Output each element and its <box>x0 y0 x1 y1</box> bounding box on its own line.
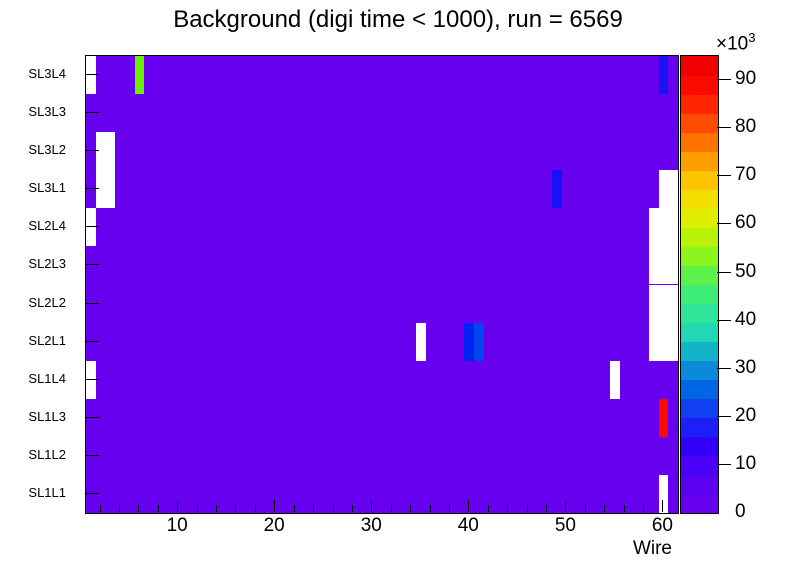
colorbar-band <box>681 418 718 438</box>
colorbar-band <box>681 494 718 514</box>
colorbar-label-40: 40 <box>735 309 756 331</box>
colorbar-tick-labels: 0102030405060708090 <box>717 55 796 515</box>
x-axis-label-20: 20 <box>264 515 285 537</box>
colorbar-band <box>681 361 718 381</box>
colorbar-band <box>681 323 718 343</box>
colorbar-band <box>681 189 718 209</box>
colorbar-tick <box>717 127 731 128</box>
x-axis-label-50: 50 <box>555 515 576 537</box>
colorbar-tick <box>717 464 731 465</box>
x-axis-minor-tick <box>546 505 547 512</box>
x-axis-minor-tick <box>488 505 489 512</box>
x-axis-minor-tick <box>235 505 236 512</box>
x-axis-minor-tick <box>527 505 528 512</box>
colorbar-band <box>681 113 718 133</box>
x-axis-title: Wire <box>0 538 677 560</box>
x-axis-major-tick <box>468 500 469 512</box>
x-axis-minor-tick <box>197 505 198 512</box>
x-axis-label-60: 60 <box>652 515 673 537</box>
x-axis-label-10: 10 <box>167 515 188 537</box>
x-axis-minor-tick <box>333 505 334 512</box>
colorbar-band <box>681 342 718 362</box>
colorbar-band <box>681 75 718 95</box>
x-axis-minor-tick <box>313 505 314 512</box>
colorbar-band <box>681 437 718 457</box>
x-axis-minor-tick <box>294 505 295 512</box>
canvas: Background (digi time < 1000), run = 656… <box>0 0 796 572</box>
colorbar-multiplier-exponent: 3 <box>748 30 755 45</box>
x-axis-minor-tick <box>410 505 411 512</box>
x-axis-minor-tick <box>624 505 625 512</box>
colorbar-band <box>681 285 718 305</box>
colorbar-band <box>681 227 718 247</box>
colorbar-band <box>681 56 718 76</box>
colorbar-label-10: 10 <box>735 453 756 475</box>
x-axis-major-tick <box>565 500 566 512</box>
x-axis-major-tick <box>371 500 372 512</box>
colorbar-label-80: 80 <box>735 116 756 138</box>
x-axis-minor-tick <box>352 505 353 512</box>
colorbar-band <box>681 265 718 285</box>
x-axis-ticks <box>0 0 796 572</box>
x-axis-minor-tick <box>255 505 256 512</box>
colorbar-tick <box>717 320 731 321</box>
color-bar[interactable] <box>680 55 719 514</box>
x-axis-minor-tick <box>216 505 217 512</box>
x-axis-minor-tick <box>100 505 101 512</box>
x-axis-minor-tick <box>449 505 450 512</box>
colorbar-band <box>681 246 718 266</box>
colorbar-label-30: 30 <box>735 357 756 379</box>
colorbar-tick <box>717 79 731 80</box>
colorbar-band <box>681 475 718 495</box>
x-axis-minor-tick <box>158 505 159 512</box>
x-axis-minor-tick <box>138 505 139 512</box>
colorbar-band <box>681 208 718 228</box>
x-axis-label-30: 30 <box>361 515 382 537</box>
x-axis-minor-tick <box>643 505 644 512</box>
colorbar-label-70: 70 <box>735 164 756 186</box>
x-axis-major-tick <box>662 500 663 512</box>
x-axis-major-tick <box>177 500 178 512</box>
x-axis-minor-tick <box>507 505 508 512</box>
colorbar-tick <box>717 272 731 273</box>
colorbar-tick <box>717 223 731 224</box>
colorbar-tick <box>717 416 731 417</box>
x-axis-major-tick <box>274 500 275 512</box>
colorbar-band <box>681 380 718 400</box>
x-axis-minor-tick <box>119 505 120 512</box>
colorbar-label-0: 0 <box>735 501 746 523</box>
colorbar-band <box>681 94 718 114</box>
colorbar-band <box>681 151 718 171</box>
colorbar-label-60: 60 <box>735 212 756 234</box>
colorbar-band <box>681 170 718 190</box>
x-axis-minor-tick <box>604 505 605 512</box>
colorbar-band <box>681 456 718 476</box>
colorbar-band <box>681 132 718 152</box>
colorbar-label-90: 90 <box>735 68 756 90</box>
x-axis-minor-tick <box>585 505 586 512</box>
x-axis-minor-tick <box>430 505 431 512</box>
colorbar-label-50: 50 <box>735 261 756 283</box>
colorbar-tick <box>717 368 731 369</box>
colorbar-band <box>681 399 718 419</box>
x-axis-minor-tick <box>391 505 392 512</box>
colorbar-multiplier: ×103 <box>716 30 755 55</box>
colorbar-multiplier-base: ×10 <box>716 33 748 54</box>
colorbar-tick <box>717 175 731 176</box>
colorbar-label-20: 20 <box>735 405 756 427</box>
x-axis-label-40: 40 <box>458 515 479 537</box>
colorbar-band <box>681 304 718 324</box>
